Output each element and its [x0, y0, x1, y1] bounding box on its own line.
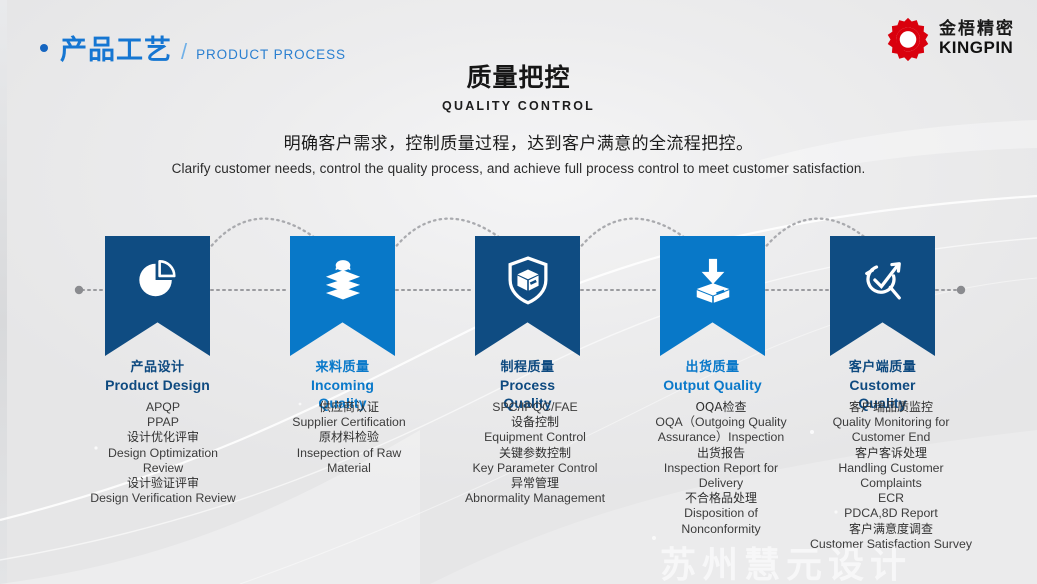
- step-label-cn: 出货质量: [660, 360, 765, 376]
- detail-column-process-quality: SPC/IPQC/FAE设备控制Equipment Control关键参数控制K…: [442, 400, 628, 506]
- brand-logo: 金梧精密 KINGPIN: [885, 16, 1015, 62]
- detail-line: Inspection Report for: [628, 461, 814, 476]
- detail-line: ECR: [796, 491, 986, 506]
- detail-column-customer-quality: 客户端品质监控Quality Monitoring forCustomer En…: [796, 400, 986, 552]
- detail-line: 客户端品质监控: [796, 400, 986, 415]
- gear-logo-icon: [885, 16, 931, 62]
- detail-line: 出货报告: [628, 446, 814, 461]
- detail-line: 供应商认证: [256, 400, 442, 415]
- detail-line: 设计优化评审: [70, 430, 256, 445]
- detail-line: Abnormality Management: [442, 491, 628, 506]
- page-title-en: QUALITY CONTROL: [0, 99, 1037, 113]
- page-title-cn: 质量把控: [0, 58, 1037, 94]
- step-label-cn: 来料质量: [290, 360, 395, 376]
- bullet-dot-icon: [40, 44, 48, 52]
- detail-line: 关键参数控制: [442, 446, 628, 461]
- detail-line: Material: [256, 461, 442, 476]
- check-growth-arrow-icon: [857, 254, 909, 306]
- detail-line: 不合格品处理: [628, 491, 814, 506]
- flow-step-process-quality[interactable]: 制程质量 Process Quality: [475, 236, 580, 412]
- ribbon-banner: [830, 236, 935, 356]
- detail-line: APQP: [70, 400, 256, 415]
- slide-canvas: 产品工艺 / PRODUCT PROCESS 金梧精密 KINGPIN 质量把控…: [0, 0, 1037, 584]
- detail-line: 异常管理: [442, 476, 628, 491]
- layers-stack-icon: [317, 254, 369, 306]
- flow-step-incoming-quality[interactable]: 来料质量 Incoming Quality: [290, 236, 395, 412]
- page-subtitle-en: Clarify customer needs, control the qual…: [0, 161, 1037, 176]
- endpoint-dot-icon: [75, 286, 83, 294]
- step-label-cn: 制程质量: [475, 360, 580, 376]
- detail-line: Quality Monitoring for: [796, 415, 986, 430]
- detail-line: SPC/IPQC/FAE: [442, 400, 628, 415]
- title-block: 质量把控 QUALITY CONTROL 明确客户需求，控制质量过程，达到客户满…: [0, 58, 1037, 176]
- detail-line: OQA检查: [628, 400, 814, 415]
- detail-line: PPAP: [70, 415, 256, 430]
- ribbon-banner: [105, 236, 210, 356]
- detail-line: Equipment Control: [442, 430, 628, 445]
- shield-box-icon: [502, 254, 554, 306]
- detail-line: Key Parameter Control: [442, 461, 628, 476]
- detail-line: Disposition of: [628, 506, 814, 521]
- flow-step-customer-quality[interactable]: 客户端质量 Customer Quality: [830, 236, 935, 412]
- detail-line: 设计验证评审: [70, 476, 256, 491]
- detail-line: Supplier Certification: [256, 415, 442, 430]
- page-subtitle-cn: 明确客户需求，控制质量过程，达到客户满意的全流程把控。: [0, 129, 1037, 154]
- brand-name-en: KINGPIN: [939, 39, 1015, 57]
- detail-line: Insepection of Raw: [256, 446, 442, 461]
- package-download-icon: [687, 254, 739, 306]
- detail-columns: APQPPPAP设计优化评审Design OptimizationReview设…: [0, 400, 1037, 570]
- detail-line: Handling Customer: [796, 461, 986, 476]
- step-label-en: Output Quality: [660, 377, 765, 395]
- detail-line: 客户满意度调查: [796, 522, 986, 537]
- brand-name-cn: 金梧精密: [939, 21, 1015, 39]
- detail-line: 客户客诉处理: [796, 446, 986, 461]
- step-label-en: Product Design: [105, 377, 210, 395]
- ribbon-banner: [290, 236, 395, 356]
- detail-line: PDCA,8D Report: [796, 506, 986, 521]
- step-label-cn: 产品设计: [105, 360, 210, 376]
- endpoint-dot-icon: [957, 286, 965, 294]
- detail-line: Design Verification Review: [70, 491, 256, 506]
- detail-column-incoming-quality: 供应商认证Supplier Certification原材料检验Insepect…: [256, 400, 442, 476]
- detail-line: Design Optimization: [70, 446, 256, 461]
- flow-step-product-design[interactable]: 产品设计 Product Design: [105, 236, 210, 395]
- flow-step-output-quality[interactable]: 出货质量 Output Quality: [660, 236, 765, 395]
- detail-column-product-design: APQPPPAP设计优化评审Design OptimizationReview设…: [70, 400, 256, 506]
- detail-line: Assurance）Inspection: [628, 430, 814, 445]
- ribbon-banner: [475, 236, 580, 356]
- detail-line: Delivery: [628, 476, 814, 491]
- detail-column-output-quality: OQA检查OQA（Outgoing QualityAssurance）Inspe…: [628, 400, 814, 537]
- detail-line: 原材料检验: [256, 430, 442, 445]
- detail-line: OQA（Outgoing Quality: [628, 415, 814, 430]
- detail-line: Customer Satisfaction Survey: [796, 537, 986, 552]
- detail-line: 设备控制: [442, 415, 628, 430]
- detail-line: Customer End: [796, 430, 986, 445]
- ribbon-banner: [660, 236, 765, 356]
- pie-chart-icon: [132, 254, 184, 306]
- detail-line: Review: [70, 461, 256, 476]
- detail-line: Complaints: [796, 476, 986, 491]
- step-label-cn: 客户端质量: [830, 360, 935, 376]
- detail-line: Nonconformity: [628, 522, 814, 537]
